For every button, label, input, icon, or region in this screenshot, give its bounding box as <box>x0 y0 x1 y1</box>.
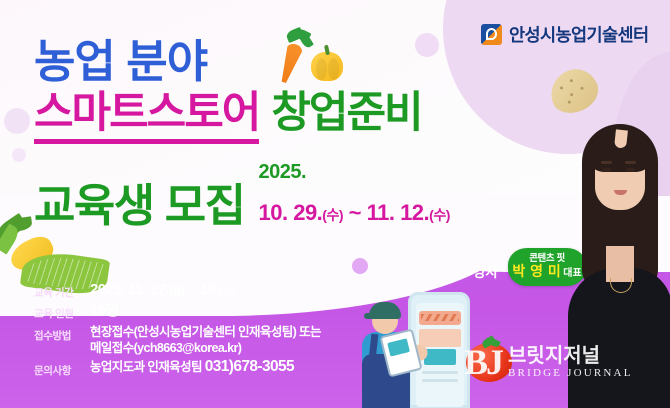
info-row-contact: 문의사항 농업지도과 인재육성팀 031)678-3055 <box>34 359 364 378</box>
info-block: 교육 기간 2025. 11. 17.(월) ~ 19.(수) 교육 인원 15… <box>34 281 364 381</box>
organization-name: 안성시농업기술센터 <box>509 22 649 47</box>
headline-line-1: 농업 분야 <box>34 36 450 88</box>
anseong-emblem-icon <box>481 24 502 45</box>
headline-smartstore: 스마트스토어 <box>34 88 259 144</box>
period-mid: ~ <box>185 281 200 298</box>
info-label-period: 교육 기간 <box>34 281 90 300</box>
headline-startup-prep: 창업준비 <box>271 88 421 138</box>
info-label-application: 접수방법 <box>34 324 90 343</box>
period-start: 2025. 11. 17. <box>90 281 169 298</box>
bj-monogram-icon: BJ <box>464 344 502 380</box>
application-method-line1: 현장접수(안성시농업기술센터 인재육성팀) 또는 <box>90 324 321 340</box>
headline-line-3: 교육생 모집 2025. 10. 29.(수) ~ 11. 12.(수) <box>34 148 450 232</box>
recruit-start-weekday: (수) <box>322 207 343 223</box>
info-value-capacity: 15명 <box>90 302 119 320</box>
instructor-name: 박 영 미 <box>512 264 561 279</box>
shop-line-1 <box>422 371 458 374</box>
info-label-capacity: 교육 인원 <box>34 302 90 321</box>
promotional-poster: 안성시농업기술센터 농업 분야 스마트스토어 창업준비 교육생 모집 2025. <box>0 0 670 408</box>
info-value-period: 2025. 11. 17.(월) ~ 19.(수) <box>90 281 235 300</box>
info-value-contact: 농업지도과 인재육성팀 031)678-3055 <box>90 359 294 375</box>
period-end-weekday: (수) <box>219 285 235 297</box>
headline-recruit: 교육생 모집 <box>34 180 245 232</box>
recruit-start-date: 10. 29. <box>259 200 323 225</box>
shop-box <box>424 349 456 365</box>
info-row-period: 교육 기간 2025. 11. 17.(월) ~ 19.(수) <box>34 281 364 300</box>
shop-awning <box>419 311 461 325</box>
instructor-label: 강사 <box>473 262 498 282</box>
period-end: 19. <box>200 281 219 298</box>
watermark-english: BRIDGE JOURNAL <box>508 367 633 380</box>
info-label-contact: 문의사항 <box>34 359 90 378</box>
recruit-range: 10. 29.(수) ~ 11. 12.(수) <box>259 200 450 228</box>
band-decorative-dot <box>352 258 368 274</box>
contact-phone: 031)678-3055 <box>205 358 294 375</box>
info-row-capacity: 교육 인원 15명 <box>34 302 364 321</box>
watermark-korean: 브릿지저널 <box>508 345 633 367</box>
info-value-application: 현장접수(안성시농업기술센터 인재육성팀) 또는 메일접수(ych8663@ko… <box>90 324 321 356</box>
period-start-weekday: (월) <box>169 285 185 297</box>
lavender-dot-left <box>4 108 30 134</box>
watermark-text: 브릿지저널 BRIDGE JOURNAL <box>508 345 633 380</box>
headline-line-2: 스마트스토어 창업준비 <box>34 88 450 144</box>
recruit-year: 2025. <box>259 161 307 183</box>
application-method-line2: 메일접수(ych8663@korea.kr) <box>90 340 321 356</box>
recruit-tilde: ~ <box>343 200 367 225</box>
info-row-application: 접수방법 현장접수(안성시농업기술센터 인재육성팀) 또는 메일접수(ych86… <box>34 324 364 356</box>
shop-line-2 <box>422 379 458 382</box>
organization-logo: 안성시농업기술센터 <box>481 22 649 47</box>
farmer-cap <box>369 302 401 319</box>
lavender-dot-left-small <box>12 148 26 162</box>
recruit-date-block: 2025. 10. 29.(수) ~ 11. 12.(수) <box>259 148 450 232</box>
headline-block: 농업 분야 스마트스토어 창업준비 교육생 모집 2025. 10. 29.(수… <box>34 36 450 232</box>
shop-counter <box>419 329 461 347</box>
contact-dept: 농업지도과 인재육성팀 <box>90 360 202 374</box>
bridge-journal-watermark: BJ 브릿지저널 BRIDGE JOURNAL <box>464 344 633 380</box>
recruit-end-date: 11. 12. <box>367 200 430 225</box>
recruit-end-weekday: (수) <box>429 207 450 223</box>
